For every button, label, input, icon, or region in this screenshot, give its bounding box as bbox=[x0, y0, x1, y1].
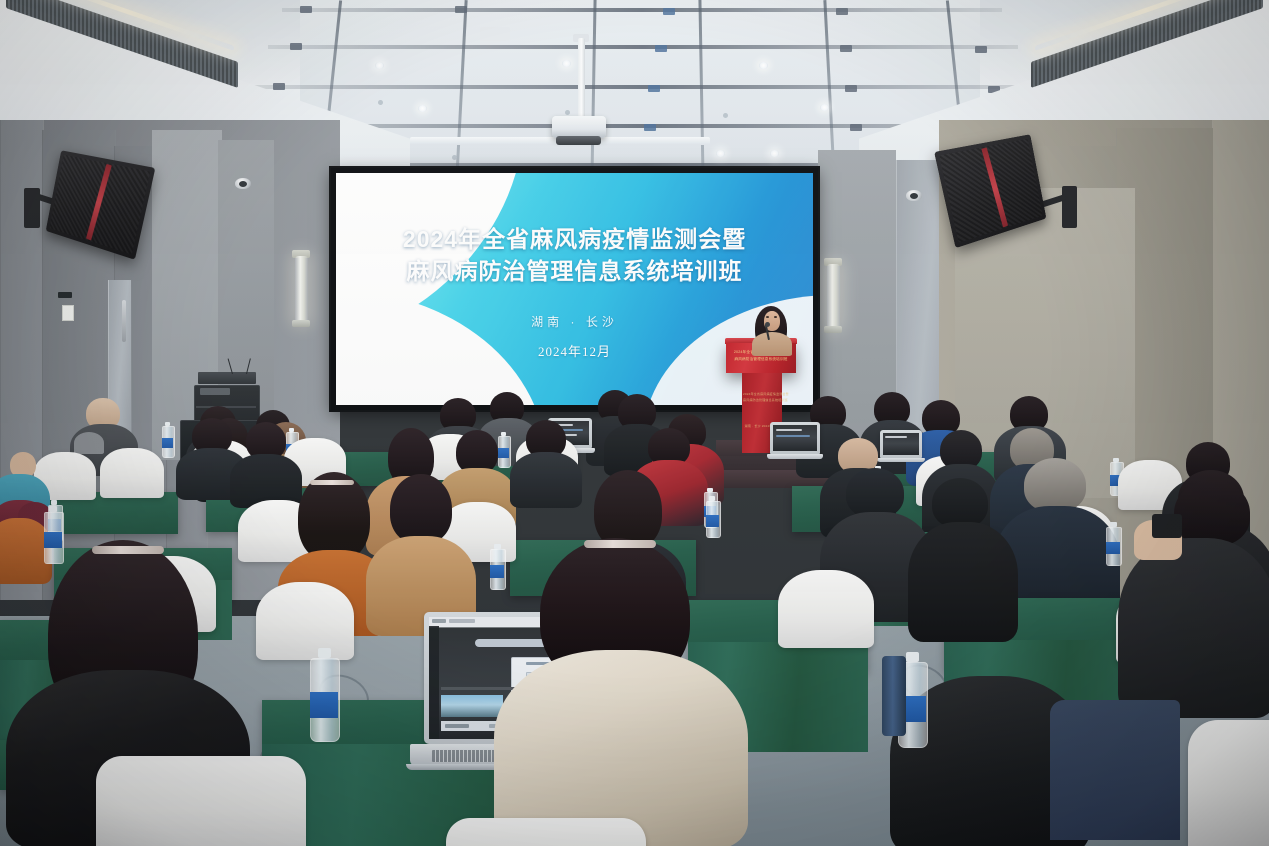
chair-fg-a[interactable] bbox=[96, 756, 306, 846]
chair-r2-b[interactable] bbox=[256, 582, 354, 660]
dome-camera-left bbox=[235, 178, 251, 189]
water-bottle-r5-c[interactable] bbox=[498, 432, 509, 466]
chair-r2-c[interactable] bbox=[778, 570, 874, 648]
conference-hall-photo: 2024年全省麻风病疫情监测会暨 麻风病防治管理信息系统培训班 湖南 · 长沙 … bbox=[0, 0, 1269, 846]
screen-title-line-1: 2024年全省麻风病疫情监测会暨 bbox=[336, 225, 813, 255]
water-bottle-fg-a[interactable] bbox=[310, 648, 338, 740]
water-bottle-r3-a[interactable] bbox=[490, 544, 504, 588]
water-bottle-fg-c[interactable] bbox=[44, 506, 62, 562]
wall-mount-bracket bbox=[58, 292, 72, 298]
wall-notice bbox=[62, 305, 74, 321]
screen-title-line-2: 麻风病防治管理信息系统培训班 bbox=[336, 257, 813, 287]
chair-r4-b[interactable] bbox=[100, 448, 164, 498]
chair-fg-c[interactable] bbox=[446, 818, 646, 846]
water-bottle-r3-c[interactable] bbox=[1106, 522, 1120, 564]
podium-lower-line-1: 2024年全省麻风病疫情监测会暨 bbox=[743, 392, 781, 397]
thermos-bottle[interactable] bbox=[882, 656, 906, 736]
screen-location: 湖南 · 长沙 bbox=[336, 313, 813, 330]
chair-fg-b[interactable] bbox=[1188, 720, 1269, 846]
attendee-fg-right-jeans bbox=[1050, 700, 1180, 840]
water-bottle-r3-b[interactable] bbox=[706, 496, 719, 536]
podium-banner-line-2: 麻风病防治管理信息系统培训班 bbox=[728, 357, 794, 363]
water-bottle-r5-a[interactable] bbox=[162, 422, 173, 456]
dome-camera-right bbox=[906, 190, 922, 201]
podium-lower-line-2: 麻风病防治管理信息系统培训班 bbox=[743, 398, 781, 403]
